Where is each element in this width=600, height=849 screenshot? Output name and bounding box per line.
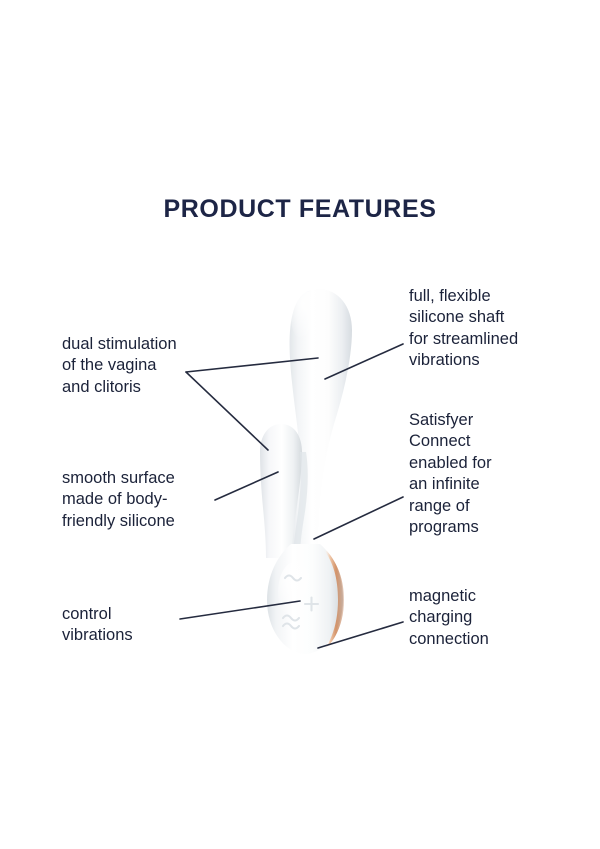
callout-magnetic-charging: magnetic charging connection: [409, 586, 569, 650]
product-features-page: PRODUCT FEATURES: [0, 0, 600, 849]
plus-button-icon: [305, 598, 318, 611]
product-accent-stripe: [324, 550, 344, 650]
product-controls: [283, 576, 318, 629]
callout-control-vibrations: control vibrations: [62, 604, 212, 647]
leader-satisfyer-connect: [314, 497, 403, 539]
leader-magnetic-charging: [318, 622, 403, 648]
callout-smooth-surface: smooth surface made of body- friendly si…: [62, 468, 247, 532]
leader-flexible-shaft: [325, 344, 403, 379]
callout-satisfyer-connect: Satisfyer Connect enabled for an infinit…: [409, 410, 559, 539]
callout-dual-stimulation: dual stimulation of the vagina and clito…: [62, 334, 237, 398]
product-groove: [293, 452, 308, 558]
product-handle-highlight: [278, 562, 312, 622]
mode-button-icon: [285, 576, 301, 581]
page-title: PRODUCT FEATURES: [0, 195, 600, 224]
product-tip-highlight: [291, 292, 325, 344]
product-shaft: [290, 289, 352, 556]
product-clitoral-arm: [260, 424, 302, 558]
product-handle: [267, 544, 343, 654]
callout-flexible-shaft: full, flexible silicone shaft for stream…: [409, 286, 579, 372]
intensity-button-icon: [283, 616, 299, 629]
